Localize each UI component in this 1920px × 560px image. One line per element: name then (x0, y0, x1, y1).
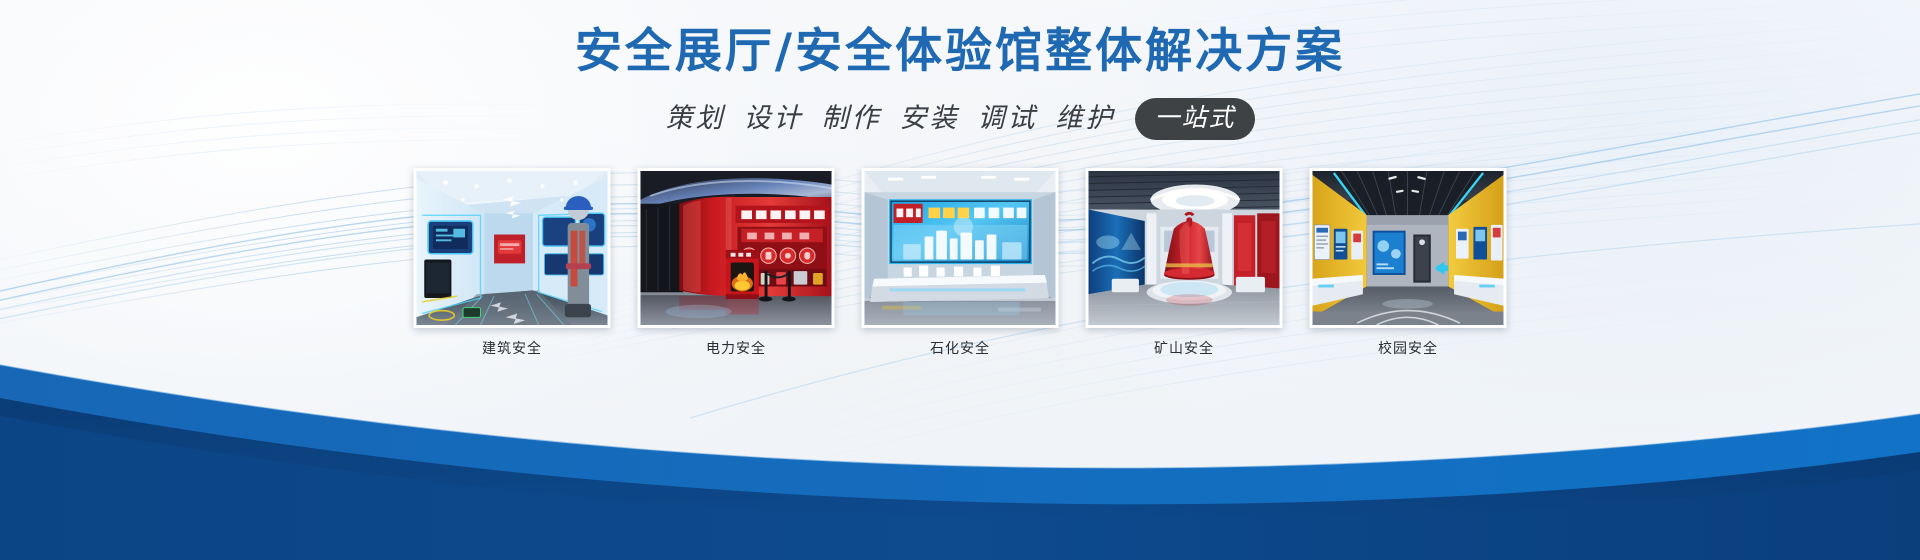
gallery-item[interactable]: 校园安全 (1310, 168, 1507, 359)
gallery-item[interactable]: 石化安全 (862, 168, 1059, 359)
gallery-caption: 电力安全 (638, 339, 835, 359)
gallery-thumbnail-petrochemical[interactable] (862, 168, 1059, 328)
service-word-list: 策划 设计 制作 安装 调试 维护 一站式 (0, 98, 1920, 140)
gallery-thumbnail-campus[interactable] (1310, 168, 1507, 328)
scene-bell-rotunda (1089, 171, 1280, 325)
gallery-caption: 石化安全 (862, 339, 1059, 359)
service-word-design: 设计 (743, 102, 803, 136)
scene-led-screen-hall (865, 171, 1056, 325)
gallery-item[interactable]: 建筑安全 (414, 168, 611, 359)
gallery-caption: 矿山安全 (1086, 339, 1283, 359)
service-word-maintenance: 维护 (1055, 102, 1115, 136)
service-word-installation: 安装 (899, 102, 959, 136)
gallery-item[interactable]: 电力安全 (638, 168, 835, 359)
service-word-planning: 策划 (665, 102, 725, 136)
page-title: 安全展厅/安全体验馆整体解决方案 (0, 22, 1920, 82)
headline-block: 安全展厅/安全体验馆整体解决方案 策划 设计 制作 安装 调试 维护 一站式 (0, 22, 1920, 140)
promo-banner: 安全展厅/安全体验馆整体解决方案 策划 设计 制作 安装 调试 维护 一站式 (0, 0, 1920, 560)
gallery-thumbnail-construction[interactable] (414, 168, 611, 328)
scene-blue-corridor (417, 171, 608, 325)
gallery-thumbnail-power[interactable] (638, 168, 835, 328)
gallery-strip: 建筑安全 (414, 168, 1507, 359)
gallery-item[interactable]: 矿山安全 (1086, 168, 1283, 359)
service-word-debugging: 调试 (977, 102, 1037, 136)
scene-yellow-corridor (1313, 171, 1504, 325)
gallery-caption: 校园安全 (1310, 339, 1507, 359)
scene-red-fire-hall (641, 171, 832, 325)
gallery-thumbnail-mining[interactable] (1086, 168, 1283, 328)
service-word-production: 制作 (821, 102, 881, 136)
gallery-caption: 建筑安全 (414, 339, 611, 359)
one-stop-badge: 一站式 (1135, 98, 1254, 140)
